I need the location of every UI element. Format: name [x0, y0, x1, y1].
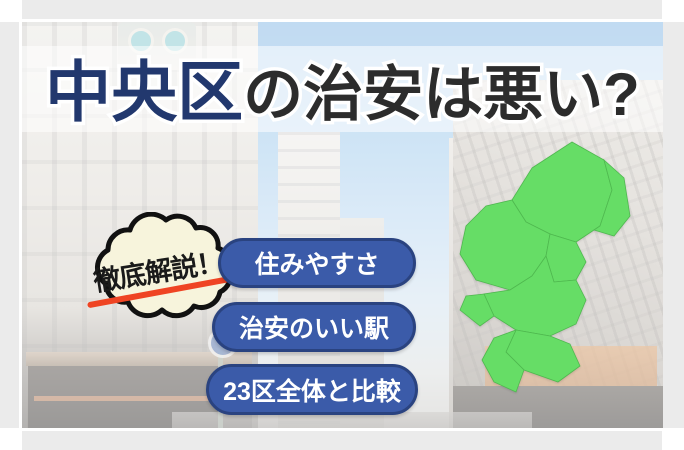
feature-pill-label: 治安のいい駅 [239, 309, 389, 345]
page-title: 中央区の治安は悪い? [22, 56, 663, 131]
badge-underline [87, 275, 232, 308]
feature-pill-label: 23区全体と比較 [223, 372, 401, 408]
hero-card: 中央区の治安は悪い? 徹底解説！ 住みやすさ 治安のいい駅 23区全体と比較 [22, 22, 663, 428]
feature-pill-safe-stations[interactable]: 治安のいい駅 [212, 302, 416, 352]
chuo-ku-ward-map-icon [454, 130, 650, 410]
badge-label: 徹底解説！ [90, 240, 225, 303]
frame-strip-bottom [22, 431, 662, 450]
page-root: 中央区の治安は悪い? 徹底解説！ 住みやすさ 治安のいい駅 23区全体と比較 [0, 0, 684, 450]
feature-pill-livability[interactable]: 住みやすさ [218, 238, 416, 288]
feature-pill-label: 住みやすさ [254, 245, 379, 281]
feature-pill-compare-23-wards[interactable]: 23区全体と比較 [206, 364, 418, 415]
frame-strip-top [22, 0, 662, 19]
title-ward-name: 中央区 [45, 56, 243, 128]
title-question: の治安は悪い? [243, 59, 640, 131]
frame-strip-left [0, 22, 19, 428]
frame-strip-right [663, 22, 684, 428]
